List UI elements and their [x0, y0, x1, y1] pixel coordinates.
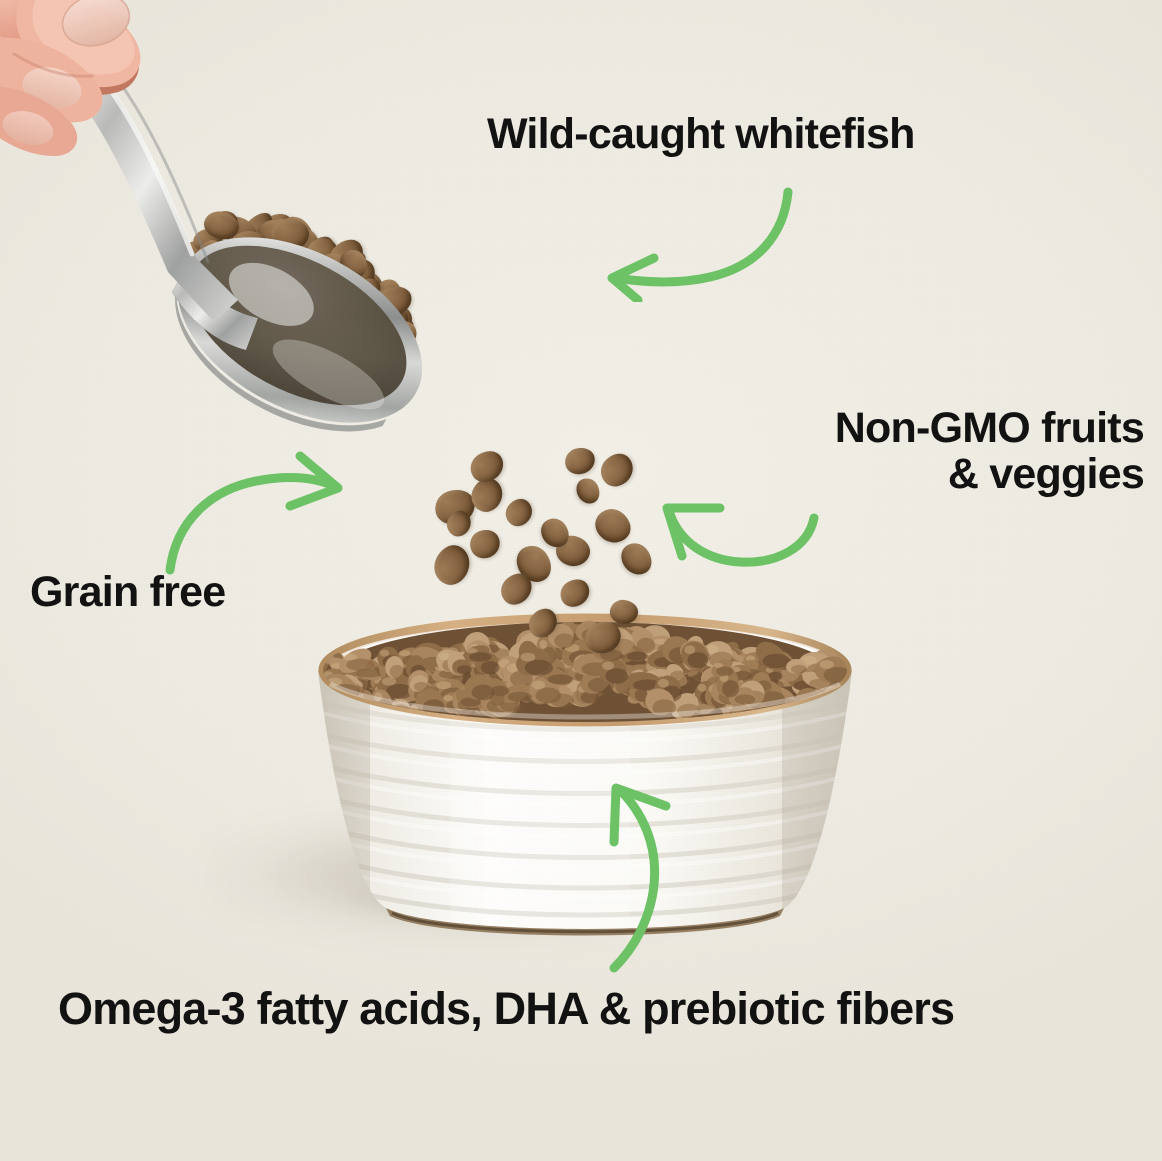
kibble-piece — [555, 574, 594, 613]
kibble-piece — [553, 533, 592, 569]
kibble-piece — [501, 494, 538, 531]
arrow-to-non-gmo-icon — [648, 476, 858, 586]
spoon-illustration — [0, 0, 620, 490]
kibble-piece — [495, 567, 538, 610]
label-grain-free: Grain free — [30, 570, 225, 616]
label-non-gmo-fruits-veggies: Non-GMO fruits & veggies — [835, 406, 1144, 497]
arrow-to-whitefish-icon — [592, 182, 832, 302]
kibble-piece — [536, 513, 575, 553]
kibble-piece — [431, 485, 480, 530]
kibble-piece — [615, 537, 658, 580]
kibble-piece — [443, 507, 475, 540]
spoon-with-hand — [0, 0, 620, 480]
infographic-canvas: Wild-caught whitefish Non-GMO fruits & v… — [0, 0, 1162, 1161]
kibble-piece — [589, 503, 636, 549]
label-wild-caught-whitefish: Wild-caught whitefish — [487, 112, 915, 158]
label-omega-3-dha-prebiotic-fibers: Omega-3 fatty acids, DHA & prebiotic fib… — [58, 985, 954, 1033]
bowl-illustration — [300, 612, 870, 942]
kibble-piece — [429, 540, 475, 589]
kibble-piece — [465, 525, 504, 563]
kibble-piece — [510, 539, 558, 589]
ceramic-bowl — [300, 612, 870, 932]
